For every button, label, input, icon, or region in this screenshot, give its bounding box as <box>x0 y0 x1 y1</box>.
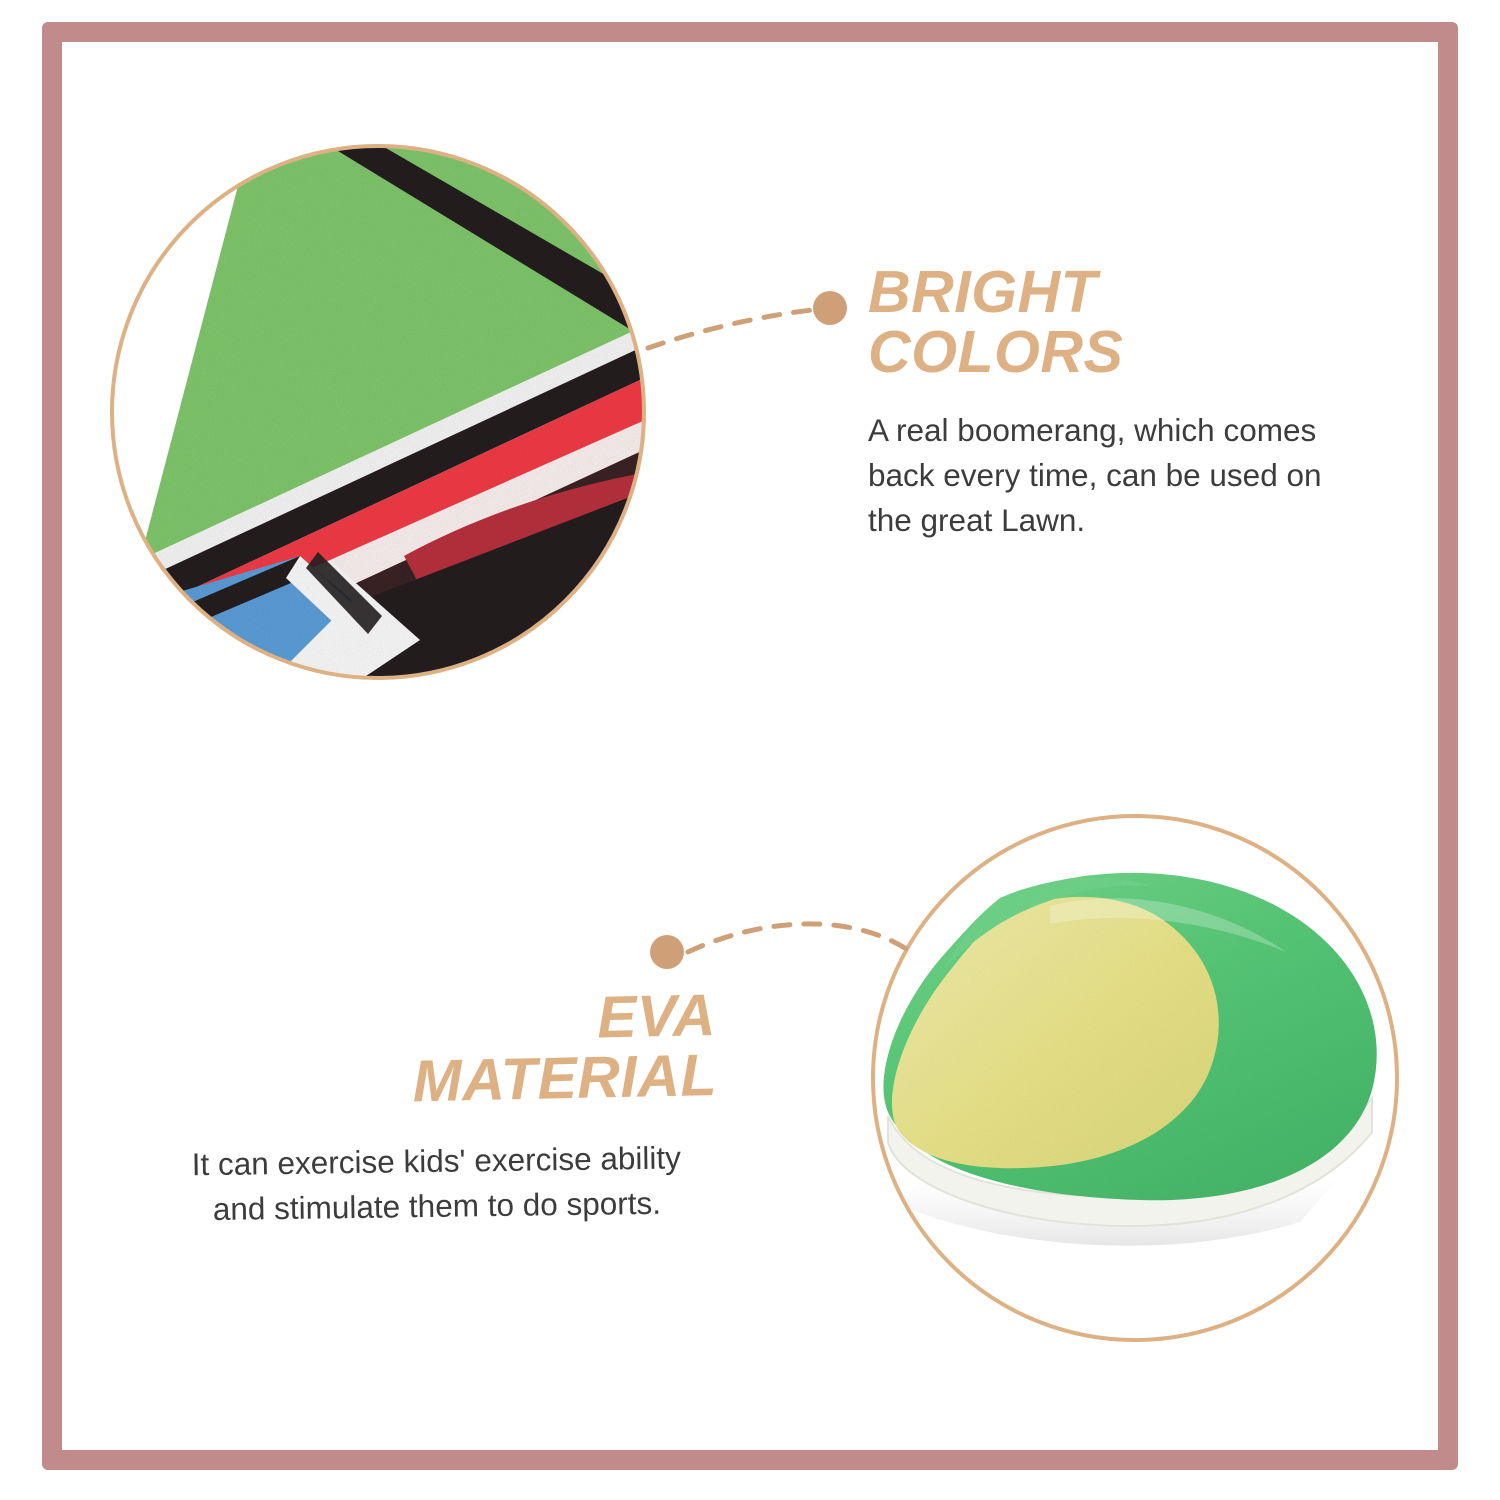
infographic-canvas: BRIGHT COLORS A real boomerang, which co… <box>0 0 1500 1500</box>
decorative-frame-border <box>42 22 1458 1470</box>
